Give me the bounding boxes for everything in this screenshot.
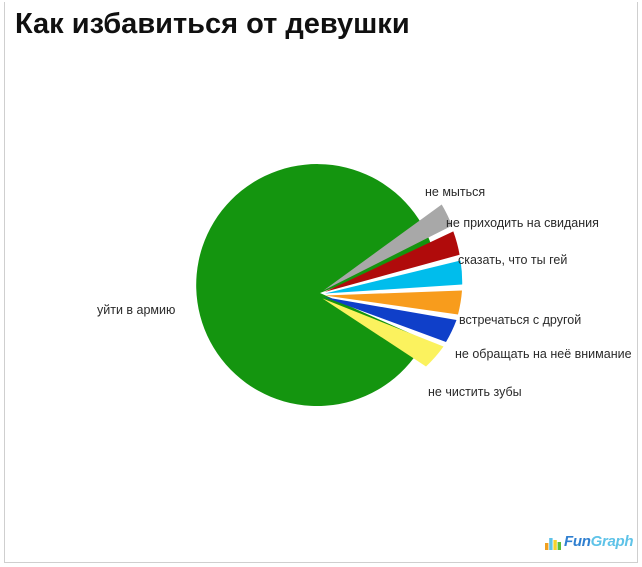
watermark-logo: FunGraph [545,533,633,550]
pie-chart [0,0,642,567]
chart-page: Как избавиться от девушки уйти в армию н… [0,0,642,567]
pie-label-skazat-chto-ty-gey: сказать, что ты гей [458,253,567,267]
watermark-text: FunGraph [564,533,633,550]
pie-label-ne-chistit-zuby: не чистить зубы [428,385,522,399]
watermark-graph: Graph [591,533,634,550]
watermark-fun: Fun [564,533,591,550]
pie-label-ne-obraschat-vnimanie: не обращать на неё внимание [455,347,632,361]
pie-label-uyti-v-armiyu: уйти в армию [97,303,175,317]
pie-label-ne-mytsya: не мыться [425,185,485,199]
pie-label-vstrechatsya-s-drugoy: встречаться с другой [459,313,581,327]
bar-chart-icon [545,534,561,550]
pie-label-ne-prihodit-na-svidaniya: не приходить на свидания [446,216,599,230]
